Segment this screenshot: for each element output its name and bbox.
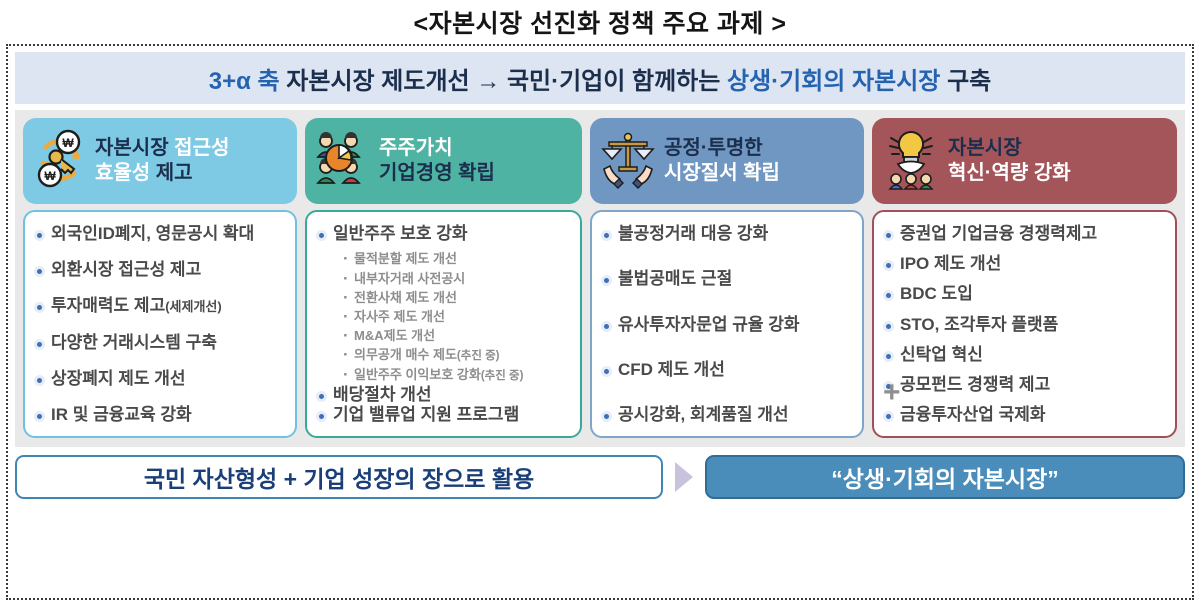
list-item: 외국인ID폐지, 영문공시 확대	[34, 224, 288, 244]
pillar-2-title-line1: 주주가치	[379, 137, 453, 159]
sub-list-item-label: 일반주주 이익보호 강화	[354, 367, 481, 382]
pillar-2-body: 일반주주 보호 강화 물적분할 제도 개선 내부자거래 사전공시 전환사채 제도…	[305, 210, 582, 438]
pillar-1-title-line1-plain: 자본시장	[95, 137, 174, 159]
sub-list-item-note: (추진 중)	[481, 370, 524, 382]
pillar-column-1: ₩ ₩ 자본시장 접근성 효율성 제고 외국인ID폐지, 영문공시 확대 외환시…	[23, 118, 297, 438]
list-item-label: 투자매력도 제고	[51, 296, 165, 315]
list-item-label: 증권업 기업금융 경쟁력제고	[900, 224, 1097, 243]
footer-arrow-icon	[663, 460, 705, 494]
list-item-label: 기업 밸류업 지원 프로그램	[333, 405, 519, 424]
page-title: <자본시장 선진화 정책 주요 과제 >	[414, 4, 787, 40]
pillar-4-header: 자본시장 혁신·역량 강화	[872, 118, 1177, 204]
bullet-icon	[34, 339, 45, 350]
sub-list-item-label: 내부자거래 사전공시	[354, 271, 465, 286]
pillar-1-title-line1-accent: 접근성	[174, 137, 229, 159]
bullet-icon	[601, 230, 612, 241]
bullet-icon	[316, 391, 327, 402]
pillar-3-title-line1: 공정·투명한	[664, 137, 763, 159]
sub-list-item: 일반주주 이익보호 강화(추진 중)	[343, 365, 573, 385]
footer: 국민 자산형성 + 기업 성장의 장으로 활용 “상생·기회의 자본시장”	[15, 455, 1185, 499]
sub-list-item: 내부자거래 사전공시	[343, 269, 573, 288]
sub-list-item: 전환사채 제도 개선	[343, 288, 573, 307]
pillar-2-title: 주주가치 기업경영 확립	[379, 136, 495, 186]
bullet-icon	[601, 411, 612, 422]
list-item: 기업 밸류업 지원 프로그램	[316, 405, 573, 425]
pillar-4-title-line2: 혁신·역량 강화	[948, 161, 1071, 186]
banner: 3+α 축 자본시장 제도개선 → 국민·기업이 함께하는 상생·기회의 자본시…	[15, 52, 1185, 104]
scales-of-justice-icon	[600, 129, 656, 194]
sub-list-item-note: (추진 중)	[457, 350, 500, 362]
list-item-label: IR 및 금융교육 강화	[51, 405, 192, 424]
bullet-icon	[316, 230, 327, 241]
sub-list-item: 의무공개 매수 제도(추진 중)	[343, 345, 573, 365]
list-item: STO, 조각투자 플랫폼	[883, 315, 1168, 335]
bullet-icon	[34, 302, 45, 313]
pillar-panel: ₩ ₩ 자본시장 접근성 효율성 제고 외국인ID폐지, 영문공시 확대 외환시…	[15, 110, 1185, 447]
content-frame: 3+α 축 자본시장 제도개선 → 국민·기업이 함께하는 상생·기회의 자본시…	[6, 44, 1194, 600]
pillar-column-4: 자본시장 혁신·역량 강화 증권업 기업금융 경쟁력제고 IPO 제도 개선 B…	[872, 118, 1177, 438]
bullet-icon	[883, 290, 894, 301]
sub-list-item-label: 전환사채 제도 개선	[354, 290, 457, 305]
bullet-icon	[883, 351, 894, 362]
list-item: 투자매력도 제고(세제개선)	[34, 296, 288, 316]
sub-list-item: M&A제도 개선	[343, 326, 573, 345]
pillar-1-title-line2-plain: 제고	[150, 162, 192, 184]
sub-list-item-label: 물적분할 제도 개선	[354, 251, 457, 266]
lightbulb-innovation-icon	[882, 128, 940, 195]
bullet-icon	[883, 321, 894, 332]
sub-list-item-label: 의무공개 매수 제도	[354, 347, 457, 362]
sub-list-item: 자사주 제도 개선	[343, 307, 573, 326]
svg-text:₩: ₩	[62, 136, 74, 150]
bullet-icon	[601, 366, 612, 377]
list-item-label: 유사투자자문업 규율 강화	[618, 315, 800, 334]
bullet-icon	[34, 266, 45, 277]
footer-left-label: 국민 자산형성 + 기업 성장의 장으로 활용	[144, 460, 534, 494]
list-item-label: 금융투자산업 국제화	[900, 405, 1045, 424]
list-item-note: (세제개선)	[165, 299, 222, 314]
bullet-icon	[34, 375, 45, 386]
list-item: 신탁업 혁신	[883, 345, 1168, 365]
banner-part2: 자본시장 제도개선 → 국민·기업이 함께하는	[286, 68, 727, 95]
pillar-2-list: 일반주주 보호 강화 물적분할 제도 개선 내부자거래 사전공시 전환사채 제도…	[316, 224, 573, 426]
svg-text:₩: ₩	[44, 169, 56, 183]
list-item: 불법공매도 근절	[601, 269, 855, 289]
list-item: CFD 제도 개선	[601, 360, 855, 380]
pillar-4-title: 자본시장 혁신·역량 강화	[948, 136, 1071, 186]
bullet-icon	[883, 411, 894, 422]
pillar-3-list: 불공정거래 대응 강화 불법공매도 근절 유사투자자문업 규율 강화 CFD 제…	[601, 224, 855, 426]
bullet-icon	[34, 230, 45, 241]
pillar-3-title: 공정·투명한 시장질서 확립	[664, 136, 780, 186]
banner-part3: 상생·기회의 자본시장	[727, 68, 947, 95]
banner-part4: 구축	[947, 68, 991, 95]
banner-text: 3+α 축 자본시장 제도개선 → 국민·기업이 함께하는 상생·기회의 자본시…	[209, 61, 991, 96]
pillar-3-title-line2: 시장질서 확립	[664, 161, 780, 186]
pillar-1-body: 외국인ID폐지, 영문공시 확대 외환시장 접근성 제고 투자매력도 제고(세제…	[23, 210, 297, 438]
bullet-icon	[601, 275, 612, 286]
bullet-icon	[316, 411, 327, 422]
list-item-label: BDC 도입	[900, 284, 973, 303]
bullet-icon	[883, 230, 894, 241]
pillar-1-title-line2: 효율성 제고	[95, 161, 229, 186]
pillar-1-title: 자본시장 접근성 효율성 제고	[95, 136, 229, 186]
list-item: 공모펀드 경쟁력 제고	[883, 375, 1168, 395]
list-item-label: 다양한 거래시스템 구축	[51, 333, 217, 352]
list-item-label: 신탁업 혁신	[900, 345, 983, 364]
pillar-2-title-line2: 기업경영 확립	[379, 161, 495, 186]
bullet-icon	[34, 411, 45, 422]
list-item: 공시강화, 회계품질 개선	[601, 405, 855, 425]
list-item: 다양한 거래시스템 구축	[34, 333, 288, 353]
infographic-page: <자본시장 선진화 정책 주요 과제 > 3+α 축 자본시장 제도개선 → 국…	[0, 0, 1200, 606]
list-item: 증권업 기업금융 경쟁력제고	[883, 224, 1168, 244]
sub-list-item-label: M&A제도 개선	[354, 328, 435, 343]
footer-left-box: 국민 자산형성 + 기업 성장의 장으로 활용	[15, 455, 663, 499]
pillar-2-header: 주주가치 기업경영 확립	[305, 118, 582, 204]
list-item: IPO 제도 개선	[883, 254, 1168, 274]
list-item: BDC 도입	[883, 284, 1168, 304]
pillar-3-header: 공정·투명한 시장질서 확립	[590, 118, 864, 204]
pillar-column-3: 공정·투명한 시장질서 확립 불공정거래 대응 강화 불법공매도 근절 유사투자…	[590, 118, 864, 438]
list-item: 금융투자산업 국제화	[883, 405, 1168, 425]
pillar-column-2: 주주가치 기업경영 확립 일반주주 보호 강화 물적분할 제도 개선 내부자거래…	[305, 118, 582, 438]
key-won-cycle-icon: ₩ ₩	[33, 129, 87, 194]
list-item-label: 상장폐지 제도 개선	[51, 369, 186, 388]
banner-part1: 3+α 축	[209, 68, 287, 95]
pillar-2-sublist: 물적분할 제도 개선 내부자거래 사전공시 전환사채 제도 개선 자사주 제도 …	[333, 249, 573, 384]
list-item-label: 일반주주 보호 강화	[333, 224, 468, 243]
list-item-label: 외국인ID폐지, 영문공시 확대	[51, 224, 254, 243]
shareholders-pie-icon	[315, 129, 371, 194]
sub-list-item: 물적분할 제도 개선	[343, 249, 573, 268]
bullet-icon	[601, 321, 612, 332]
pillar-1-header: ₩ ₩ 자본시장 접근성 효율성 제고	[23, 118, 297, 204]
footer-right-box: “상생·기회의 자본시장”	[705, 455, 1185, 499]
pillar-4-list: 증권업 기업금융 경쟁력제고 IPO 제도 개선 BDC 도입 STO, 조각투…	[883, 224, 1168, 426]
sub-list-item-label: 자사주 제도 개선	[354, 309, 445, 324]
page-title-bar: <자본시장 선진화 정책 주요 과제 >	[0, 0, 1200, 44]
list-item: 상장폐지 제도 개선	[34, 369, 288, 389]
list-item-label: CFD 제도 개선	[618, 360, 725, 379]
pillar-1-list: 외국인ID폐지, 영문공시 확대 외환시장 접근성 제고 투자매력도 제고(세제…	[34, 224, 288, 426]
list-item-label: 공모펀드 경쟁력 제고	[900, 375, 1050, 394]
bullet-icon	[883, 260, 894, 271]
plus-connector: +	[883, 378, 901, 408]
list-item: IR 및 금융교육 강화	[34, 405, 288, 425]
list-item: 일반주주 보호 강화 물적분할 제도 개선 내부자거래 사전공시 전환사채 제도…	[316, 224, 573, 385]
list-item-label: STO, 조각투자 플랫폼	[900, 315, 1058, 334]
list-item-label: 불법공매도 근절	[618, 269, 732, 288]
footer-right-label: “상생·기회의 자본시장”	[831, 460, 1059, 494]
list-item-label: 외환시장 접근성 제고	[51, 260, 201, 279]
list-item: 배당절차 개선	[316, 385, 573, 405]
pillar-4-title-line1: 자본시장	[948, 137, 1022, 159]
list-item-label: IPO 제도 개선	[900, 254, 1001, 273]
list-item-label: 공시강화, 회계품질 개선	[618, 405, 789, 424]
list-item-label: 불공정거래 대응 강화	[618, 224, 768, 243]
pillar-4-body: 증권업 기업금융 경쟁력제고 IPO 제도 개선 BDC 도입 STO, 조각투…	[872, 210, 1177, 438]
pillar-3-body: 불공정거래 대응 강화 불법공매도 근절 유사투자자문업 규율 강화 CFD 제…	[590, 210, 864, 438]
list-item-label: 배당절차 개선	[333, 385, 432, 404]
list-item: 외환시장 접근성 제고	[34, 260, 288, 280]
pillar-1-title-line2-accent: 효율성	[95, 162, 150, 184]
list-item: 유사투자자문업 규율 강화	[601, 315, 855, 335]
list-item: 불공정거래 대응 강화	[601, 224, 855, 244]
